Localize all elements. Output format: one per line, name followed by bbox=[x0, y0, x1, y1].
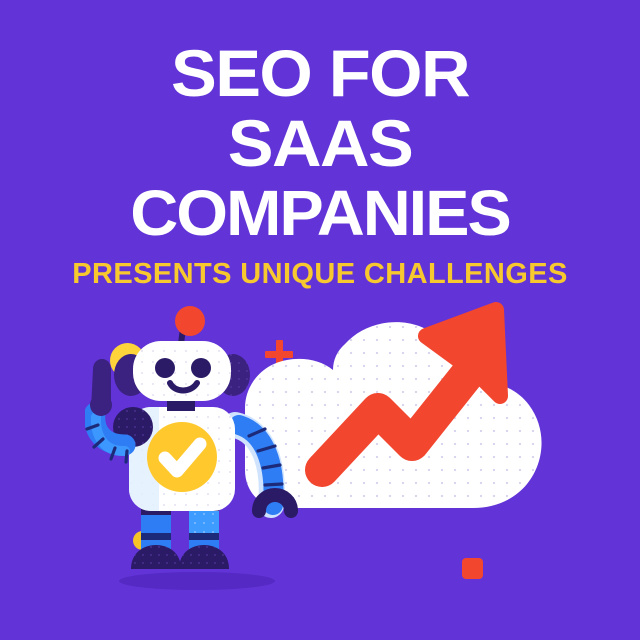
headline-line-3: COMPANIES bbox=[0, 178, 640, 248]
robot-character bbox=[85, 305, 315, 595]
headline-line-1: SEO FOR bbox=[0, 38, 640, 108]
growth-arrow-icon bbox=[300, 300, 570, 550]
robot-leg-left bbox=[131, 503, 181, 569]
headline-block: SEO FOR SAAS COMPANIES bbox=[0, 38, 640, 248]
robot-leg-right bbox=[179, 503, 229, 569]
robot-chest-badge bbox=[147, 422, 217, 492]
robot-head bbox=[114, 306, 250, 401]
robot-eye-left bbox=[155, 358, 175, 378]
robot-eye-right bbox=[191, 358, 211, 378]
subtitle-text: PRESENTS UNIQUE CHALLENGES bbox=[0, 258, 640, 291]
robot-arm-right bbox=[235, 425, 291, 511]
poster-canvas: SEO FOR SAAS COMPANIES PRESENTS UNIQUE C… bbox=[0, 0, 640, 640]
headline-line-2: SAAS bbox=[0, 108, 640, 178]
antenna-ball bbox=[175, 306, 205, 336]
square-accent bbox=[462, 558, 483, 579]
